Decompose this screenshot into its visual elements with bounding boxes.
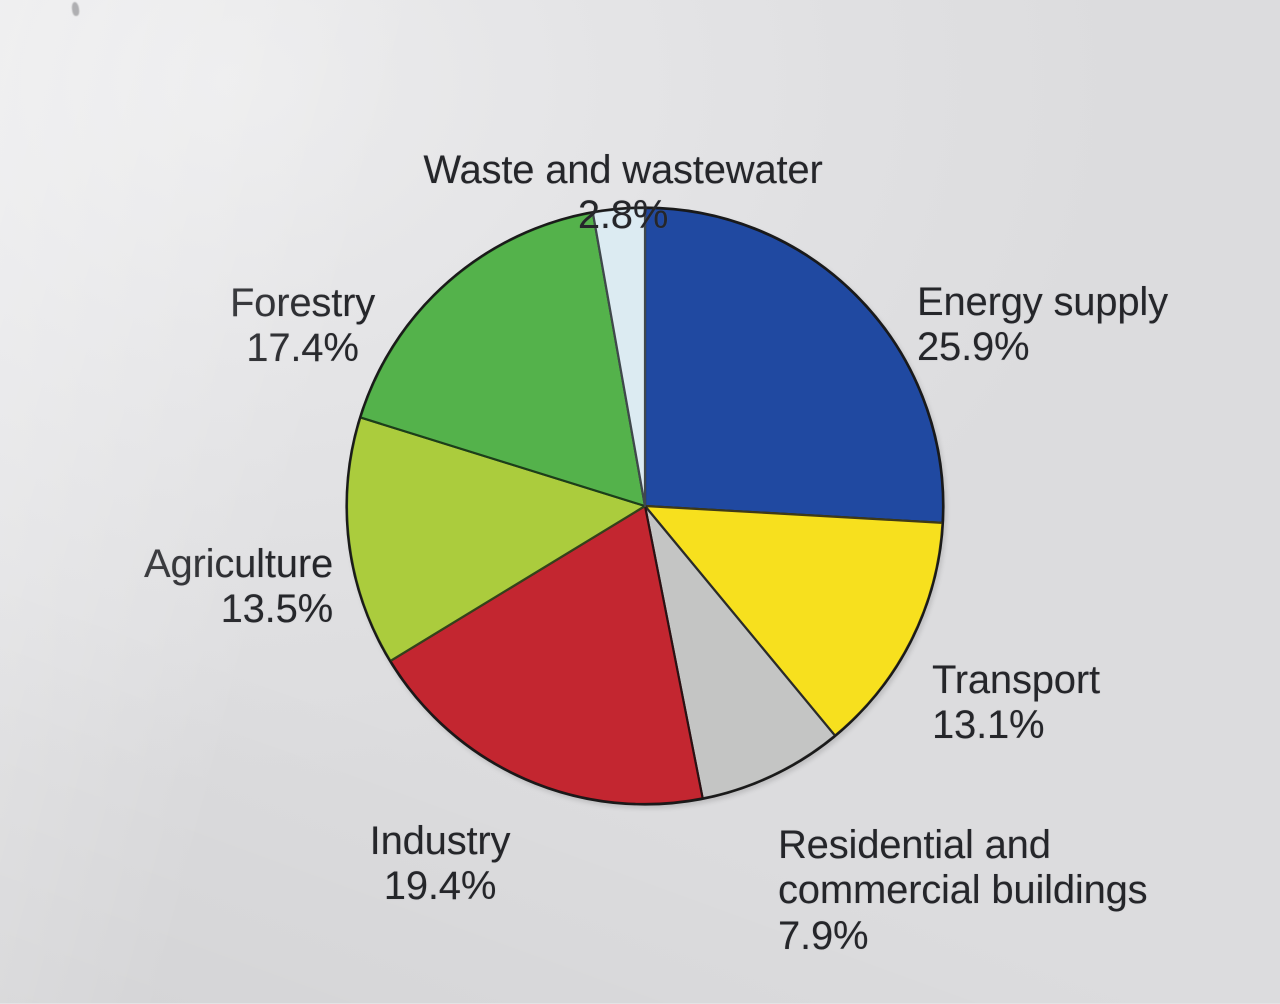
- slice-label-forestry: Forestry 17.4%: [185, 236, 420, 417]
- slice-label-agriculture: Agriculture 13.5%: [90, 497, 333, 678]
- slice-label-name: Residential and commercial buildings: [778, 823, 1147, 912]
- slice-label-name: Forestry: [230, 281, 375, 325]
- slice-label-percent: 19.4%: [300, 864, 580, 909]
- slice-label-waste-and-wastewater: Waste and wastewater 2.8%: [373, 103, 873, 284]
- slice-label-name: Waste and wastewater: [423, 148, 822, 192]
- slice-label-name: Agriculture: [144, 542, 333, 586]
- slice-label-percent: 13.5%: [90, 587, 333, 632]
- pie-chart-svg: Energy supply 25.9%Transport 13.1%Reside…: [345, 206, 945, 806]
- slice-label-industry: Industry 19.4%: [300, 774, 580, 955]
- pie-slice-group: Energy supply 25.9%Transport 13.1%Reside…: [347, 208, 943, 804]
- slice-label-residential-and-commercial-buildings: Residential and commercial buildings 7.9…: [778, 778, 1228, 1004]
- slice-label-percent: 17.4%: [185, 326, 420, 371]
- slice-label-name: Industry: [370, 819, 511, 863]
- pie-chart-plot-area: Energy supply 25.9%Transport 13.1%Reside…: [345, 206, 945, 806]
- slice-label-transport: Transport 13.1%: [932, 613, 1232, 794]
- slice-label-name: Energy supply: [917, 280, 1168, 324]
- scan-artifact-speck: [71, 2, 80, 17]
- slice-label-percent: 13.1%: [932, 703, 1232, 748]
- slice-label-percent: 25.9%: [917, 325, 1257, 370]
- pie-chart-figure: Energy supply 25.9%Transport 13.1%Reside…: [0, 0, 1280, 1003]
- slice-label-energy-supply: Energy supply 25.9%: [917, 235, 1257, 416]
- slice-label-percent: 7.9%: [778, 914, 1228, 959]
- slice-label-name: Transport: [932, 658, 1100, 702]
- slice-label-percent: 2.8%: [373, 193, 873, 238]
